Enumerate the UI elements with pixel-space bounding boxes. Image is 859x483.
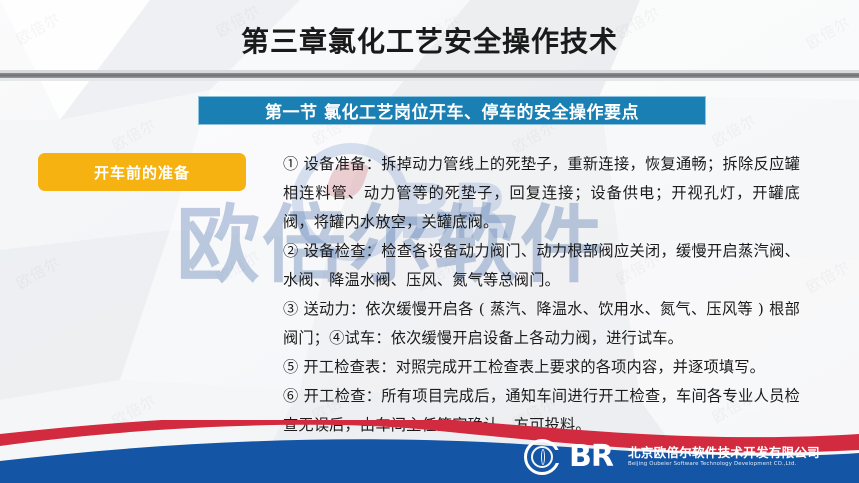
content-paragraph: ③ 送动力：依次缓慢开启各 ( 蒸汽、降温水、饮用水、氮气、压风等 ) 根部阀门… xyxy=(283,295,800,353)
slide: 欧倍尔 欧倍尔 欧倍尔 欧倍尔 欧倍尔 欧倍尔 欧倍尔 欧倍尔 欧倍尔 欧倍尔 … xyxy=(0,0,859,483)
content-paragraph: ② 设备检查：检查各设备动力阀门、动力根部阀应关闭，缓慢开启蒸汽阀、水阀、降温水… xyxy=(283,237,800,295)
section-banner: 第一节 氯化工艺岗位开车、停车的安全操作要点 xyxy=(198,96,706,125)
company-name-cn: 北京欧倍尔软件技术开发有限公司 xyxy=(628,445,820,460)
header-divider xyxy=(0,70,859,82)
footer: BR 北京欧倍尔软件技术开发有限公司 Beijing Oubeier Softw… xyxy=(0,420,859,483)
content-paragraph: ⑤ 开工检查表：对照完成开工检查表上要求的各项内容，并逐项填写。 xyxy=(283,353,800,382)
logo-br-text: BR xyxy=(569,442,613,472)
company-name-en: Beijing Oubeier Software Technology Deve… xyxy=(628,460,820,469)
br-globe-logo-icon xyxy=(524,439,560,475)
content-body: ① 设备准备：拆掉动力管线上的死垫子，重新连接，恢复通畅；拆除反应罐相连料管、动… xyxy=(283,150,800,440)
callout-pill: 开车前的准备 xyxy=(38,153,246,191)
company-brand: BR 北京欧倍尔软件技术开发有限公司 Beijing Oubeier Softw… xyxy=(524,439,820,475)
callout-pill-label: 开车前的准备 xyxy=(94,162,190,183)
content-paragraph: ① 设备准备：拆掉动力管线上的死垫子，重新连接，恢复通畅；拆除反应罐相连料管、动… xyxy=(283,150,800,237)
section-banner-label: 第一节 氯化工艺岗位开车、停车的安全操作要点 xyxy=(265,98,639,123)
page-title: 第三章氯化工艺安全操作技术 xyxy=(0,20,859,60)
company-name-block: 北京欧倍尔软件技术开发有限公司 Beijing Oubeier Software… xyxy=(628,445,820,469)
